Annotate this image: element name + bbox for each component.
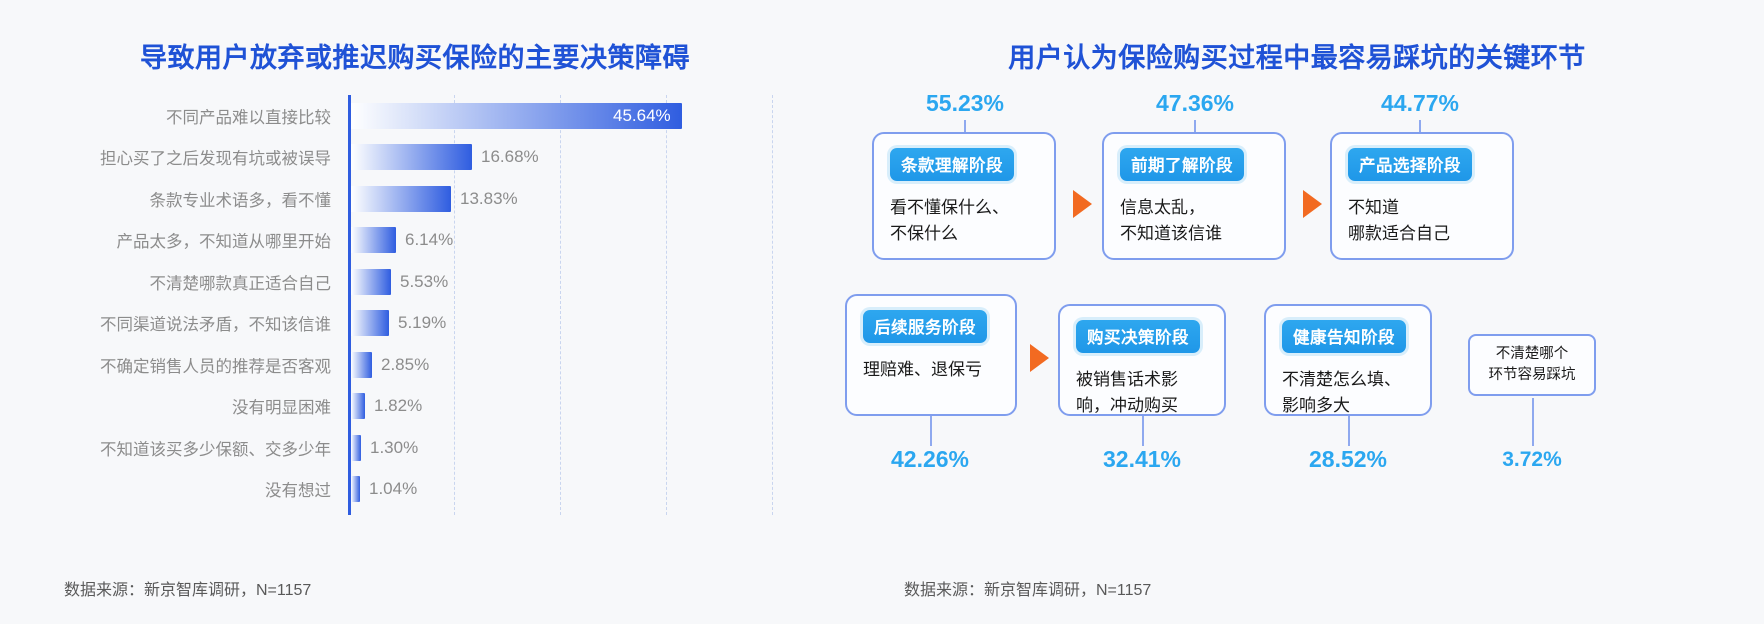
right-source-note: 数据来源：新京智库调研，N=1157 xyxy=(904,576,1151,600)
bar-track: 45.64% xyxy=(351,103,830,129)
stage-description: 被销售话术影 响，冲动购买 xyxy=(1076,367,1208,418)
bar-value-label: 2.85% xyxy=(381,355,429,375)
bar-row: 条款专业术语多，看不懂 13.83% xyxy=(0,178,830,220)
bar-value-label: 13.83% xyxy=(460,189,518,209)
bar-track: 1.30% xyxy=(351,435,830,461)
bar-fill[interactable] xyxy=(351,352,372,378)
stage-card-product-selection[interactable]: 产品选择阶段 不知道 哪款适合自己 xyxy=(1330,132,1514,260)
stage-card-health-disclosure[interactable]: 健康告知阶段 不清楚怎么填、 影响多大 xyxy=(1264,304,1432,416)
bar-category-label: 产品太多，不知道从哪里开始 xyxy=(0,228,340,252)
bar-value-label: 1.30% xyxy=(370,438,418,458)
stage-percent-1: 55.23% xyxy=(865,90,1065,117)
bar-fill[interactable] xyxy=(351,310,389,336)
bar-fill[interactable] xyxy=(351,435,361,461)
stage-card-unknown[interactable]: 不清楚哪个 环节容易踩坑 xyxy=(1468,334,1596,396)
bar-value-label: 16.68% xyxy=(481,147,539,167)
bar-value-label: 6.14% xyxy=(405,230,453,250)
bar-track: 5.19% xyxy=(351,310,830,336)
left-panel-title: 导致用户放弃或推迟购买保险的主要决策障碍 xyxy=(0,36,830,75)
infographic-board: 导致用户放弃或推迟购买保险的主要决策障碍 不同产品难以直接比较 45.64% xyxy=(0,0,1764,624)
stage-card-terms-understanding[interactable]: 条款理解阶段 看不懂保什么、 不保什么 xyxy=(872,132,1056,260)
panel-risky-stages: 用户认为保险购买过程中最容易踩坑的关键环节 55.23% 47.36% 44.7… xyxy=(830,0,1764,624)
stage-badge: 条款理解阶段 xyxy=(890,148,1014,181)
connector-line xyxy=(930,416,932,446)
stage-description: 看不懂保什么、 不保什么 xyxy=(890,195,1038,246)
stage-percent-4: 42.26% xyxy=(830,446,1030,473)
stage-description: 不清楚怎么填、 影响多大 xyxy=(1282,367,1414,418)
stage-card-initial-research[interactable]: 前期了解阶段 信息太乱， 不知道该信谁 xyxy=(1102,132,1286,260)
stage-percent-2: 47.36% xyxy=(1095,90,1295,117)
connector-line xyxy=(1142,416,1144,446)
bar-category-label: 担心买了之后发现有坑或被误导 xyxy=(0,145,340,169)
bar-fill[interactable] xyxy=(351,393,365,419)
stage-badge: 产品选择阶段 xyxy=(1348,148,1472,181)
bar-category-label: 不清楚哪款真正适合自己 xyxy=(0,270,340,294)
bar-track: 6.14% xyxy=(351,227,830,253)
bar-category-label: 没有明显困难 xyxy=(0,394,340,418)
right-panel-title: 用户认为保险购买过程中最容易踩坑的关键环节 xyxy=(830,36,1764,75)
stage-description: 信息太乱， 不知道该信谁 xyxy=(1120,195,1268,246)
bar-category-label: 条款专业术语多，看不懂 xyxy=(0,187,340,211)
bar-value-label: 5.53% xyxy=(400,272,448,292)
bar-row: 不同渠道说法矛盾，不知该信谁 5.19% xyxy=(0,303,830,345)
bar-rows: 不同产品难以直接比较 45.64% 担心买了之后发现有坑或被误导 16.68% … xyxy=(0,95,830,515)
arrow-right-icon xyxy=(1030,344,1049,372)
bar-category-label: 不同渠道说法矛盾，不知该信谁 xyxy=(0,311,340,335)
bar-track: 1.82% xyxy=(351,393,830,419)
stage-percent-5: 32.41% xyxy=(1042,446,1242,473)
left-source-note: 数据来源：新京智库调研，N=1157 xyxy=(64,576,311,600)
stage-description: 理赔难、退保亏 xyxy=(863,357,999,383)
stage-percent-7: 3.72% xyxy=(1462,448,1602,472)
bar-row: 担心买了之后发现有坑或被误导 16.68% xyxy=(0,137,830,179)
stage-badge: 前期了解阶段 xyxy=(1120,148,1244,181)
bar-value-label: 5.19% xyxy=(398,313,446,333)
bar-category-label: 没有想过 xyxy=(0,477,340,501)
bar-track: 5.53% xyxy=(351,269,830,295)
stage-card-purchase-decision[interactable]: 购买决策阶段 被销售话术影 响，冲动购买 xyxy=(1058,304,1226,416)
stage-badge: 健康告知阶段 xyxy=(1282,320,1406,353)
stage-percent-6: 28.52% xyxy=(1248,446,1448,473)
bar-track: 13.83% xyxy=(351,186,830,212)
bar-fill[interactable] xyxy=(351,144,472,170)
stage-card-after-service[interactable]: 后续服务阶段 理赔难、退保亏 xyxy=(845,294,1017,416)
bar-category-label: 不同产品难以直接比较 xyxy=(0,104,340,128)
stage-flow-diagram: 55.23% 47.36% 44.77% 条款理解阶段 看不懂保什么、 不保什么… xyxy=(830,82,1764,512)
bar-chart: 不同产品难以直接比较 45.64% 担心买了之后发现有坑或被误导 16.68% … xyxy=(0,95,830,515)
bar-row: 没有明显困难 1.82% xyxy=(0,386,830,428)
connector-line xyxy=(1532,398,1534,446)
bar-row: 不同产品难以直接比较 45.64% xyxy=(0,95,830,137)
connector-line xyxy=(1348,416,1350,446)
bar-track: 2.85% xyxy=(351,352,830,378)
bar-value-label: 45.64% xyxy=(613,106,671,126)
bar-row: 没有想过 1.04% xyxy=(0,469,830,511)
bar-fill[interactable] xyxy=(351,186,451,212)
stage-badge: 后续服务阶段 xyxy=(863,310,987,343)
bar-track: 16.68% xyxy=(351,144,830,170)
bar-row: 不知道该买多少保额、交多少年 1.30% xyxy=(0,427,830,469)
arrow-right-icon xyxy=(1073,190,1092,218)
bar-fill[interactable] xyxy=(351,269,391,295)
bar-row: 不确定销售人员的推荐是否客观 2.85% xyxy=(0,344,830,386)
bar-value-label: 1.82% xyxy=(374,396,422,416)
bar-fill[interactable] xyxy=(351,227,396,253)
arrow-right-icon xyxy=(1303,190,1322,218)
bar-value-label: 1.04% xyxy=(369,479,417,499)
bar-track: 1.04% xyxy=(351,476,830,502)
bar-fill[interactable] xyxy=(351,476,360,502)
stage-badge: 购买决策阶段 xyxy=(1076,320,1200,353)
stage-percent-3: 44.77% xyxy=(1320,90,1520,117)
stage-description: 不知道 哪款适合自己 xyxy=(1348,195,1496,246)
bar-row: 产品太多，不知道从哪里开始 6.14% xyxy=(0,220,830,262)
panel-decision-barriers: 导致用户放弃或推迟购买保险的主要决策障碍 不同产品难以直接比较 45.64% xyxy=(0,0,830,624)
bar-category-label: 不知道该买多少保额、交多少年 xyxy=(0,436,340,460)
bar-row: 不清楚哪款真正适合自己 5.53% xyxy=(0,261,830,303)
bar-category-label: 不确定销售人员的推荐是否客观 xyxy=(0,353,340,377)
